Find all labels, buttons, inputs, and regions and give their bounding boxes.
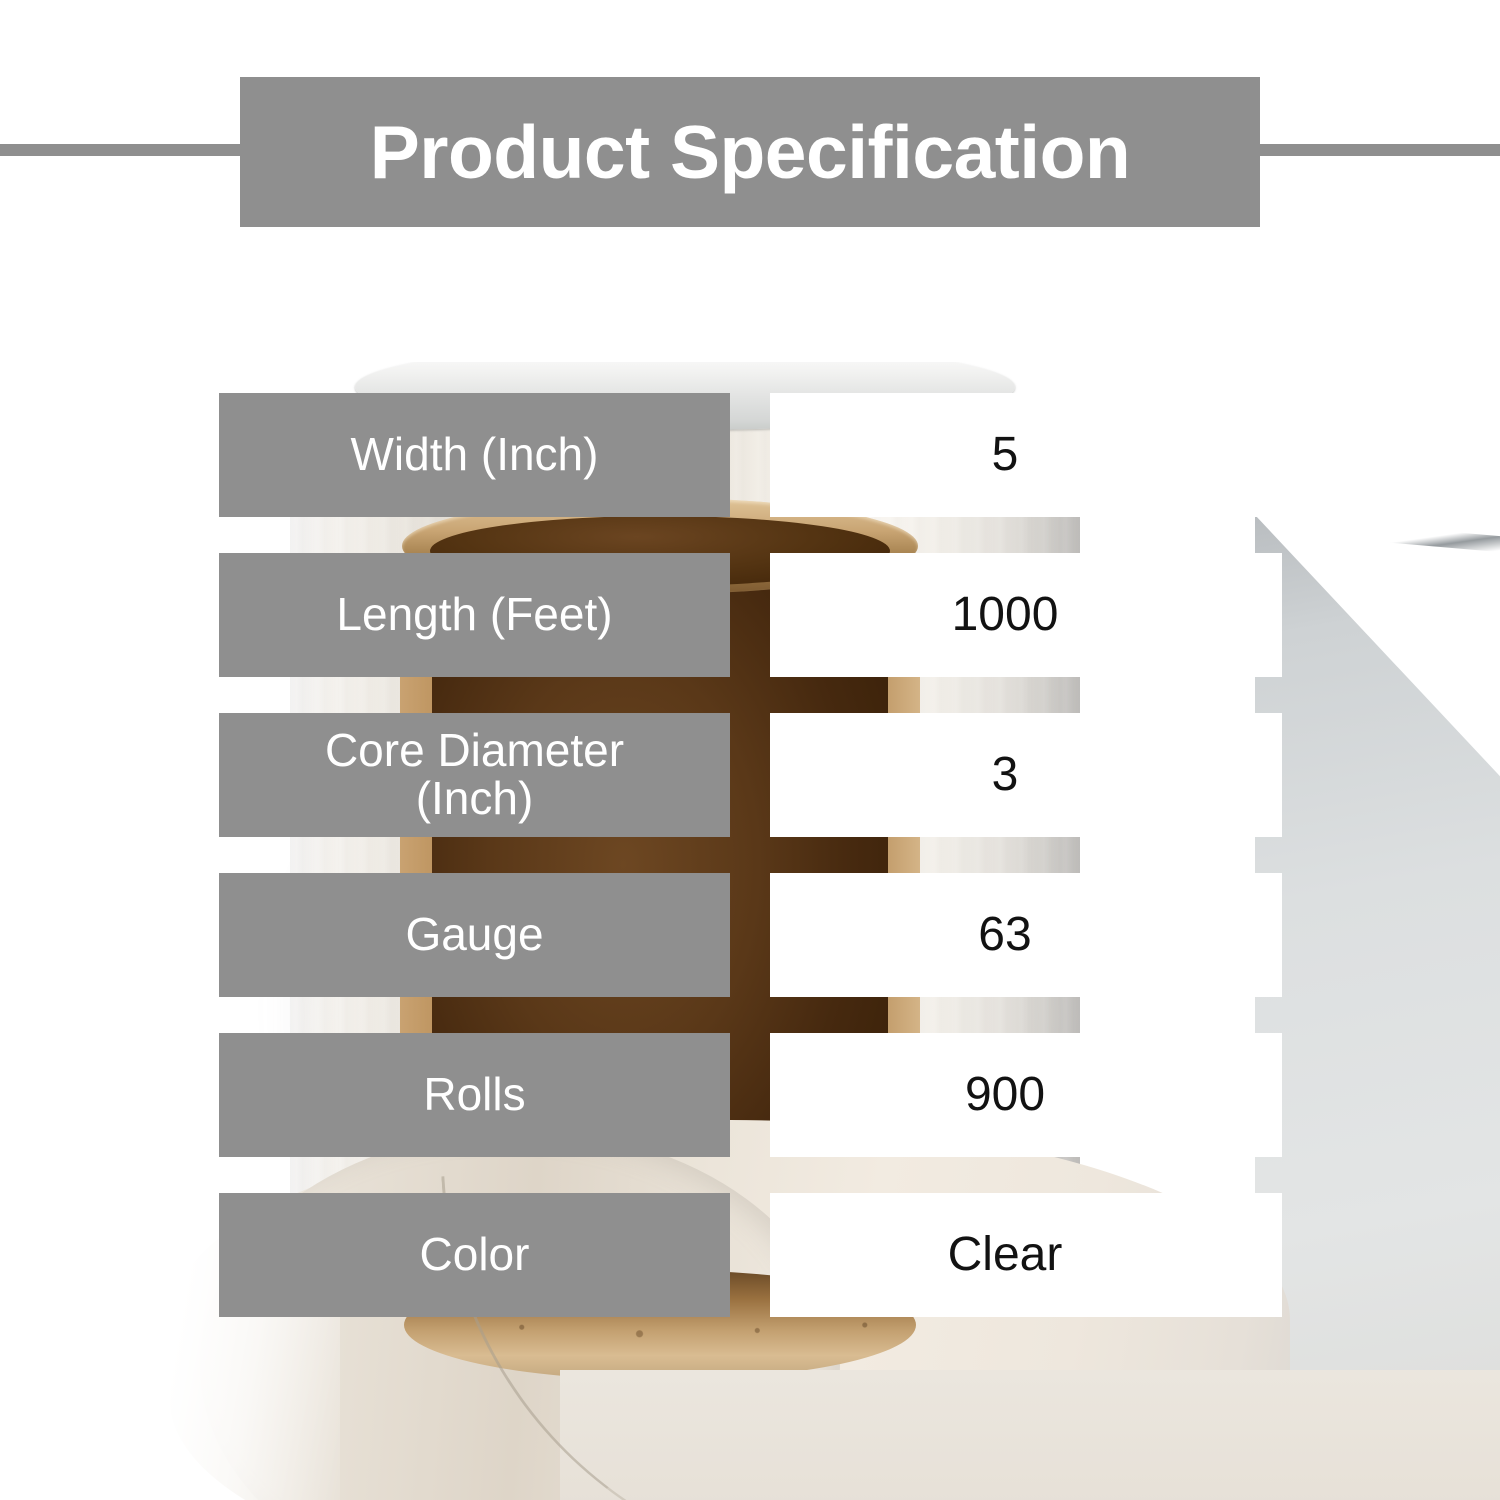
spec-value-cell: 3 (770, 713, 1282, 837)
spec-label-text: Width (Inch) (351, 431, 599, 479)
spec-label-text: Core Diameter(Inch) (325, 727, 624, 823)
spec-value-cell: 5 (770, 393, 1282, 517)
spec-value-cell: Clear (770, 1193, 1282, 1317)
spec-value-cell: 900 (770, 1033, 1282, 1157)
spec-label-cell: Rolls (219, 1033, 730, 1157)
spec-row: Width (Inch)5 (0, 393, 1500, 517)
spec-row: Gauge63 (0, 873, 1500, 997)
spec-value-text: 1000 (952, 591, 1059, 639)
spec-label-text: Length (Feet) (336, 591, 612, 639)
spec-value-text: 63 (978, 911, 1031, 959)
spec-value-cell: 1000 (770, 553, 1282, 677)
spec-value-text: 3 (992, 751, 1019, 799)
spec-value-text: Clear (948, 1231, 1063, 1279)
spec-label-cell: Gauge (219, 873, 730, 997)
specification-table: Width (Inch)5Length (Feet)1000Core Diame… (0, 0, 1500, 1500)
spec-value-text: 5 (992, 431, 1019, 479)
spec-label-text: Gauge (405, 911, 543, 959)
spec-value-text: 900 (965, 1071, 1045, 1119)
spec-label-cell: Color (219, 1193, 730, 1317)
spec-label-cell: Length (Feet) (219, 553, 730, 677)
spec-label-text: Rolls (423, 1071, 525, 1119)
spec-row: Length (Feet)1000 (0, 553, 1500, 677)
product-specification-page: Product Specification Width (Inch)5Lengt… (0, 0, 1500, 1500)
spec-row: Rolls900 (0, 1033, 1500, 1157)
spec-value-cell: 63 (770, 873, 1282, 997)
spec-row: Core Diameter(Inch)3 (0, 713, 1500, 837)
spec-row: ColorClear (0, 1193, 1500, 1317)
spec-label-text: Color (420, 1231, 530, 1279)
spec-label-cell: Core Diameter(Inch) (219, 713, 730, 837)
spec-label-cell: Width (Inch) (219, 393, 730, 517)
